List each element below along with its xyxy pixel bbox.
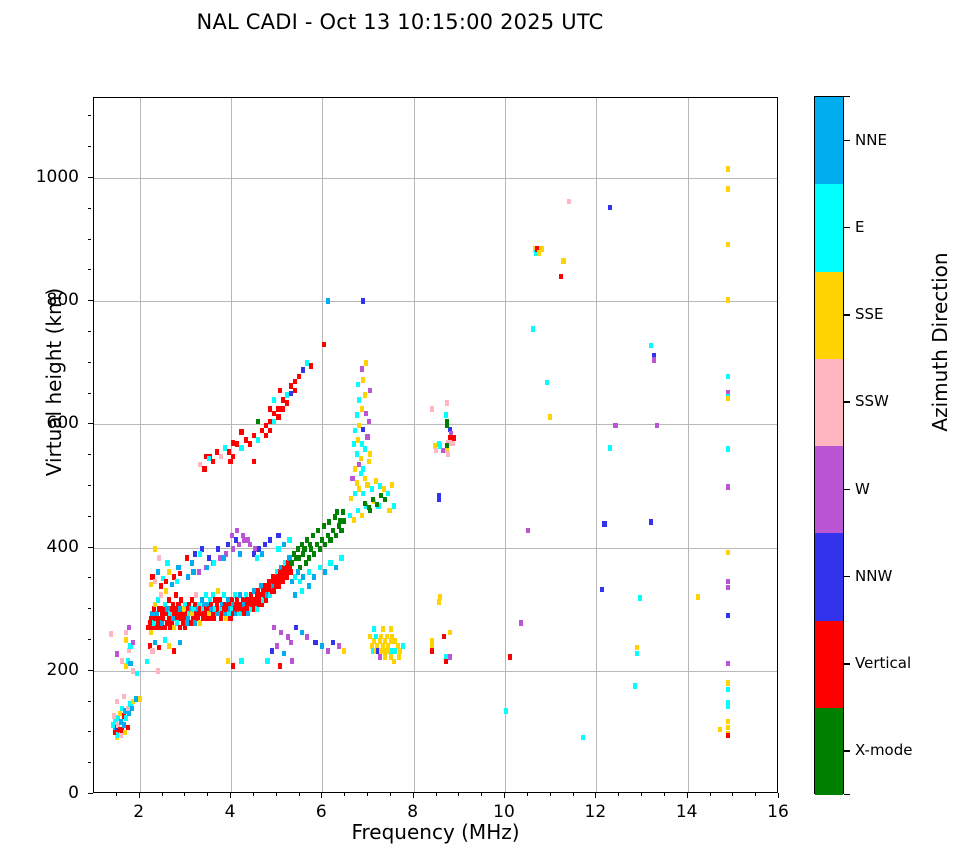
data-point <box>159 583 163 589</box>
data-point <box>726 579 730 585</box>
data-point <box>365 434 369 440</box>
data-point <box>167 569 171 575</box>
y-tick-label: 800 <box>19 290 79 310</box>
data-point <box>559 274 563 280</box>
y-tick-minor <box>88 608 91 609</box>
data-point <box>131 640 135 646</box>
data-point <box>352 517 356 523</box>
data-point <box>127 625 131 631</box>
data-point <box>323 542 327 548</box>
data-point <box>219 454 223 460</box>
data-point <box>178 625 182 631</box>
data-point <box>292 551 296 557</box>
data-point <box>115 651 119 657</box>
data-point <box>123 730 127 736</box>
data-point <box>361 427 365 433</box>
data-point <box>448 654 452 660</box>
data-point <box>368 634 372 640</box>
data-point <box>294 625 298 631</box>
y-tick-minor <box>88 269 91 270</box>
data-point <box>326 648 330 654</box>
data-point <box>655 423 659 429</box>
data-point <box>539 246 543 252</box>
data-point <box>327 519 331 525</box>
data-point <box>363 501 367 507</box>
data-point <box>157 555 161 561</box>
x-tick-minor <box>755 793 756 796</box>
data-point <box>145 659 149 665</box>
data-point <box>239 429 243 435</box>
data-point <box>285 400 289 406</box>
data-point <box>226 542 230 548</box>
colorbar-segment-vertical[interactable] <box>815 621 843 708</box>
x-tick-minor <box>732 793 733 796</box>
colorbar-tick-end <box>844 96 850 97</box>
data-point <box>231 440 235 446</box>
data-point <box>726 733 730 739</box>
colorbar-title: Azimuth Direction <box>928 192 952 492</box>
colorbar-segment-sse[interactable] <box>815 272 843 359</box>
data-point <box>312 551 316 557</box>
y-tick-minor <box>88 577 91 578</box>
data-point <box>270 648 274 654</box>
data-point <box>649 519 653 525</box>
data-point <box>608 205 612 211</box>
data-point <box>613 423 617 429</box>
data-point <box>202 466 206 472</box>
data-point <box>561 258 565 264</box>
data-point <box>726 687 730 693</box>
data-point <box>256 437 260 443</box>
data-point <box>268 428 272 434</box>
data-point <box>287 537 291 543</box>
data-point <box>307 555 311 561</box>
data-point <box>356 382 360 388</box>
data-point <box>128 661 132 667</box>
data-point <box>389 626 393 632</box>
colorbar-segment-x-mode[interactable] <box>815 708 843 795</box>
data-point <box>430 648 434 654</box>
data-point <box>263 542 267 548</box>
colorbar[interactable] <box>814 96 844 794</box>
plot-area[interactable] <box>93 97 778 793</box>
data-point <box>153 546 157 552</box>
data-point <box>652 357 656 363</box>
data-point <box>127 711 131 717</box>
data-point <box>726 661 730 667</box>
data-point <box>157 645 161 651</box>
y-tick-major <box>88 300 93 301</box>
data-point <box>275 643 279 649</box>
y-tick-label: 200 <box>19 660 79 680</box>
data-point <box>312 574 316 580</box>
data-point <box>205 565 209 571</box>
data-point <box>726 374 730 380</box>
data-point <box>364 411 368 417</box>
data-point <box>248 441 252 447</box>
data-point <box>175 579 179 585</box>
data-point <box>608 445 612 451</box>
x-tick-label: 10 <box>479 802 529 822</box>
data-point <box>156 668 160 674</box>
y-tick-major <box>88 793 93 794</box>
y-tick-minor <box>88 701 91 702</box>
data-point <box>367 505 371 511</box>
y-tick-minor <box>88 731 91 732</box>
data-point <box>282 651 286 657</box>
data-point <box>392 503 396 509</box>
x-tick-minor <box>116 793 117 796</box>
data-point <box>300 630 304 636</box>
data-point <box>635 651 639 657</box>
data-point <box>726 550 730 556</box>
data-point <box>726 396 730 402</box>
data-point <box>361 298 365 304</box>
data-point <box>318 546 322 552</box>
data-points-layer <box>94 98 777 792</box>
data-point <box>353 428 357 434</box>
y-tick-major <box>88 670 93 671</box>
x-tick-major <box>687 793 688 798</box>
data-point <box>289 640 293 646</box>
data-point <box>444 412 448 418</box>
colorbar-tick <box>844 401 850 402</box>
data-point <box>307 583 311 589</box>
data-point <box>448 630 452 636</box>
colorbar-segment-w[interactable] <box>815 446 843 533</box>
x-tick-minor <box>481 793 482 796</box>
data-point <box>633 683 637 689</box>
data-point <box>381 626 385 632</box>
data-point <box>279 630 283 636</box>
data-point <box>301 551 305 557</box>
data-point <box>293 388 297 394</box>
data-point <box>190 560 194 566</box>
ionogram-plot-page: NAL CADI - Oct 13 10:15:00 2025 UTC Freq… <box>0 0 958 857</box>
data-point <box>178 571 182 577</box>
data-point <box>239 445 243 451</box>
data-point <box>326 298 330 304</box>
data-point <box>207 456 211 462</box>
data-point <box>193 551 197 557</box>
data-point <box>293 592 297 598</box>
colorbar-tick <box>844 140 850 141</box>
data-point <box>164 579 168 585</box>
data-point <box>268 537 272 543</box>
data-point <box>194 592 198 598</box>
data-point <box>268 406 272 412</box>
data-point <box>138 696 142 702</box>
data-point <box>282 542 286 548</box>
y-tick-minor <box>88 485 91 486</box>
y-tick-minor <box>88 516 91 517</box>
data-point <box>367 419 371 425</box>
data-point <box>290 658 294 664</box>
data-point <box>183 625 187 631</box>
data-point <box>311 533 315 539</box>
data-point <box>360 366 364 372</box>
y-tick-label: 0 <box>19 783 79 803</box>
data-point <box>109 631 113 637</box>
data-point <box>170 582 174 588</box>
y-tick-minor <box>88 146 91 147</box>
colorbar-tick <box>844 314 850 315</box>
colorbar-segment-e[interactable] <box>815 184 843 271</box>
data-point <box>531 326 535 332</box>
data-point <box>216 546 220 552</box>
data-point <box>437 599 441 605</box>
x-tick-label: 6 <box>296 802 346 822</box>
data-point <box>300 588 304 594</box>
colorbar-segment-ssw[interactable] <box>815 359 843 446</box>
data-point <box>313 640 317 646</box>
data-point <box>430 406 434 412</box>
data-point <box>165 560 169 566</box>
data-point <box>304 560 308 566</box>
data-point <box>374 634 378 640</box>
y-tick-minor <box>88 331 91 332</box>
data-point <box>126 725 130 731</box>
data-point <box>383 497 387 503</box>
y-tick-label: 400 <box>19 537 79 557</box>
data-point <box>174 592 178 598</box>
colorbar-label-nnw: NNW <box>855 567 892 585</box>
data-point <box>385 634 389 640</box>
data-point <box>397 654 401 660</box>
y-tick-minor <box>88 454 91 455</box>
y-axis-title: Virtual height (km) <box>42 232 66 532</box>
data-point <box>726 725 730 731</box>
x-tick-minor <box>367 793 368 796</box>
data-point <box>231 546 235 552</box>
data-point <box>122 694 126 700</box>
data-point <box>401 643 405 649</box>
data-point <box>567 199 571 205</box>
colorbar-tick <box>844 489 850 490</box>
data-point <box>212 560 216 566</box>
y-tick-minor <box>88 239 91 240</box>
data-point <box>387 508 391 514</box>
colorbar-label-nne: NNE <box>855 131 887 149</box>
data-point <box>297 555 301 561</box>
data-point <box>445 419 449 425</box>
data-point <box>600 587 604 593</box>
data-point <box>726 704 730 710</box>
data-point <box>367 459 371 465</box>
y-tick-minor <box>88 115 91 116</box>
data-point <box>378 654 382 660</box>
data-point <box>228 459 232 465</box>
data-point <box>272 588 276 594</box>
data-point <box>163 637 167 643</box>
data-point <box>207 555 211 561</box>
colorbar-label-x-mode: X-mode <box>855 741 912 759</box>
data-point <box>228 616 232 622</box>
x-tick-major <box>321 793 322 798</box>
data-point <box>375 502 379 508</box>
data-point <box>111 722 115 728</box>
data-point <box>272 625 276 631</box>
y-tick-major <box>88 423 93 424</box>
colorbar-tick <box>844 576 850 577</box>
y-tick-label: 600 <box>19 413 79 433</box>
colorbar-label-sse: SSE <box>855 305 884 323</box>
data-point <box>726 297 730 303</box>
y-tick-minor <box>88 362 91 363</box>
data-point <box>124 637 128 643</box>
data-point <box>316 528 320 534</box>
data-point <box>383 654 387 660</box>
data-point <box>301 574 305 580</box>
data-point <box>726 484 730 490</box>
data-point <box>360 441 364 447</box>
colorbar-label-w: W <box>855 480 870 498</box>
colorbar-label-e: E <box>855 218 864 236</box>
x-tick-minor <box>299 793 300 796</box>
data-point <box>334 565 338 571</box>
x-tick-minor <box>664 793 665 796</box>
data-point <box>278 388 282 394</box>
data-point <box>363 392 367 398</box>
data-point <box>361 466 365 472</box>
data-point <box>519 620 523 626</box>
data-point <box>361 377 365 383</box>
data-point <box>252 459 256 465</box>
data-point <box>318 565 322 571</box>
data-point <box>264 433 268 439</box>
colorbar-label-ssw: SSW <box>855 392 889 410</box>
data-point <box>296 569 300 575</box>
data-point <box>726 613 730 619</box>
data-point <box>290 560 294 566</box>
data-point <box>390 482 394 488</box>
data-point <box>211 459 215 465</box>
data-point <box>363 476 367 482</box>
x-tick-minor <box>276 793 277 796</box>
data-point <box>368 388 372 394</box>
x-tick-minor <box>162 793 163 796</box>
data-point <box>726 166 730 172</box>
data-point <box>508 654 512 660</box>
data-point <box>260 551 264 557</box>
data-point <box>386 491 390 497</box>
data-point <box>234 537 238 543</box>
x-tick-major <box>230 793 231 798</box>
data-point <box>309 363 313 369</box>
data-point <box>504 708 508 714</box>
y-tick-major <box>88 547 93 548</box>
data-point <box>281 406 285 412</box>
data-point <box>726 680 730 686</box>
data-point <box>264 597 268 603</box>
data-point <box>124 630 128 636</box>
data-point <box>726 719 730 725</box>
x-axis-title: Frequency (MHz) <box>93 820 778 844</box>
data-point <box>334 533 338 539</box>
data-point <box>301 367 305 373</box>
data-point <box>256 419 260 425</box>
data-point <box>186 574 190 580</box>
y-tick-minor <box>88 393 91 394</box>
data-point <box>172 625 176 631</box>
data-point <box>115 699 119 705</box>
data-point <box>255 555 259 561</box>
data-point <box>149 630 153 636</box>
data-point <box>293 379 297 385</box>
data-point <box>649 343 653 349</box>
data-point <box>322 523 326 529</box>
data-point <box>235 528 239 534</box>
data-point <box>333 514 337 520</box>
data-point <box>341 509 345 515</box>
data-point <box>442 634 446 640</box>
data-point <box>307 569 311 575</box>
data-point <box>635 645 639 651</box>
data-point <box>272 397 276 403</box>
colorbar-tick <box>844 750 850 751</box>
x-tick-minor <box>618 793 619 796</box>
data-point <box>198 551 202 557</box>
data-point <box>276 533 280 539</box>
data-point <box>726 242 730 248</box>
x-tick-major <box>504 793 505 798</box>
data-point <box>156 597 160 603</box>
data-point <box>124 715 128 721</box>
data-point <box>276 414 280 420</box>
x-tick-label: 4 <box>205 802 255 822</box>
data-point <box>328 537 332 543</box>
colorbar-tick-end <box>844 794 850 795</box>
data-point <box>178 640 182 646</box>
data-point <box>342 518 346 524</box>
data-point <box>360 513 364 519</box>
data-point <box>153 579 157 585</box>
data-point <box>526 528 530 534</box>
data-point <box>172 648 176 654</box>
data-point <box>349 496 353 502</box>
data-point <box>545 380 549 386</box>
x-tick-major <box>778 793 779 798</box>
colorbar-segment-nnw[interactable] <box>815 533 843 620</box>
x-tick-major <box>139 793 140 798</box>
data-point <box>285 574 289 580</box>
data-point <box>197 569 201 575</box>
data-point <box>226 658 230 664</box>
colorbar-segment-nne[interactable] <box>815 97 843 184</box>
data-point <box>219 616 223 622</box>
x-tick-minor <box>390 793 391 796</box>
data-point <box>437 497 441 503</box>
data-point <box>164 588 168 594</box>
data-point <box>222 555 226 561</box>
data-point <box>445 400 449 406</box>
x-tick-label: 14 <box>662 802 712 822</box>
data-point <box>392 659 396 665</box>
data-point <box>241 533 245 539</box>
data-point <box>581 735 585 741</box>
data-point <box>320 643 324 649</box>
data-point <box>359 456 363 462</box>
colorbar-label-vertical: Vertical <box>855 654 911 672</box>
data-point <box>191 569 195 575</box>
data-point <box>156 569 160 575</box>
data-point <box>239 658 243 664</box>
data-point <box>331 640 335 646</box>
data-point <box>438 443 442 449</box>
data-point <box>305 634 309 640</box>
data-point <box>328 560 332 566</box>
data-point <box>342 648 346 654</box>
